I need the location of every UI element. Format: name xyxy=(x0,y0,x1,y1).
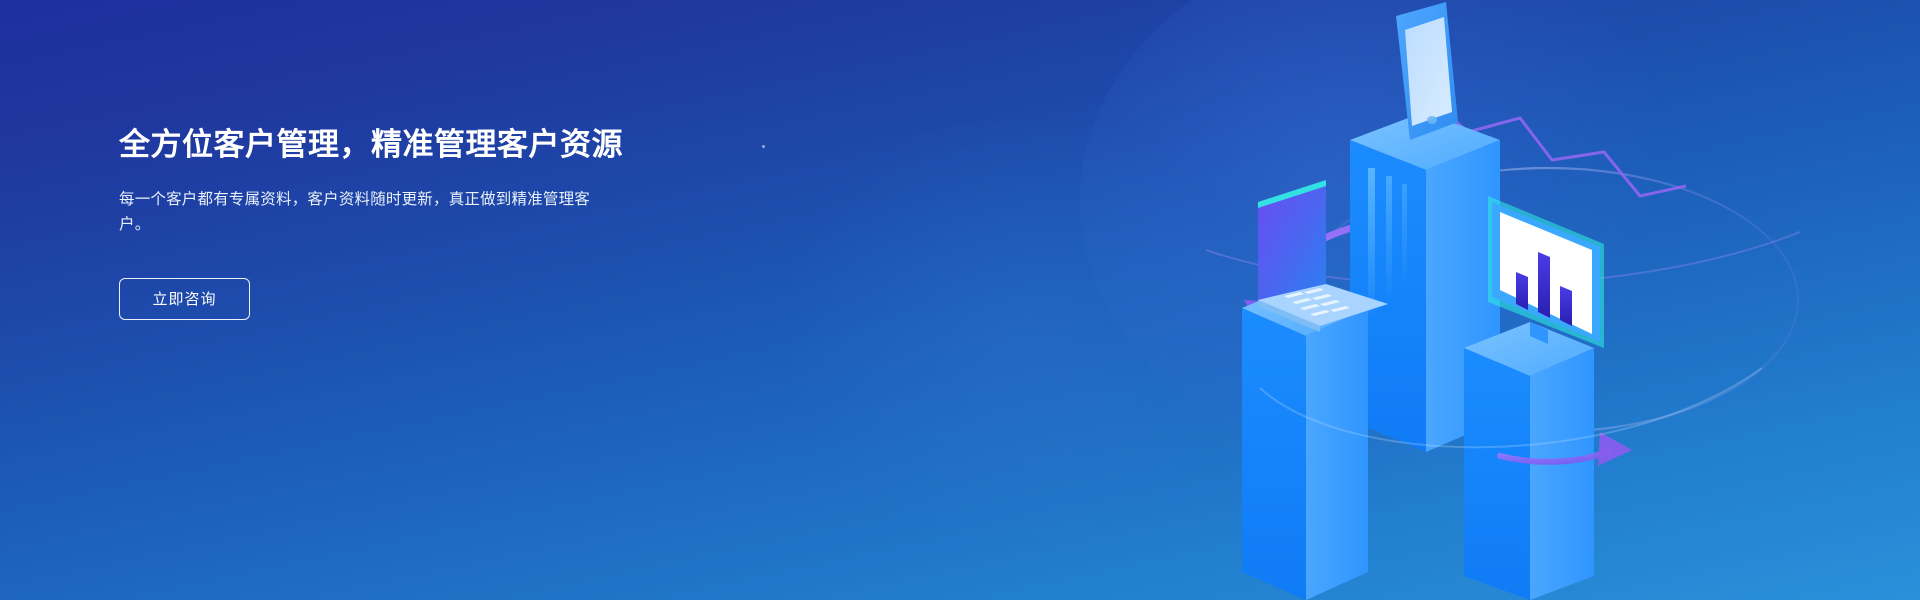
page-title: 全方位客户管理，精准管理客户资源 xyxy=(119,126,739,165)
sparkle-dot xyxy=(762,145,765,148)
monitor-bar-chart xyxy=(1488,196,1604,348)
hero-illustration xyxy=(1200,0,1920,600)
pillar-left xyxy=(1242,282,1368,600)
consult-now-button[interactable]: 立即咨询 xyxy=(119,278,250,320)
hero-banner: 全方位客户管理，精准管理客户资源 每一个客户都有专属资料，客户资料随时更新，真正… xyxy=(0,0,1920,600)
hero-copy: 全方位客户管理，精准管理客户资源 每一个客户都有专属资料，客户资料随时更新，真正… xyxy=(119,126,739,320)
hero-subtitle: 每一个客户都有专属资料，客户资料随时更新，真正做到精准管理客户。 xyxy=(119,187,611,237)
